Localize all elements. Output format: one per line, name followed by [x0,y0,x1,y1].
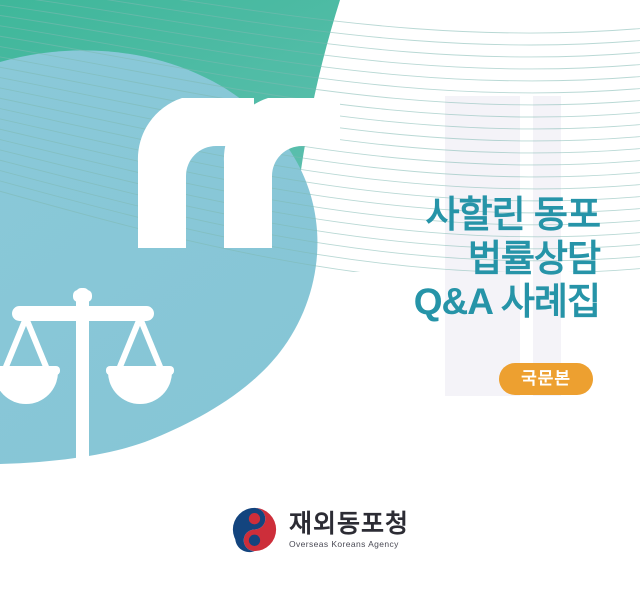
agency-name-ko: 재외동포청 [289,511,409,537]
agency-logo-text: 재외동포청 Overseas Koreans Agency [289,511,409,549]
scales-of-justice-icon [0,288,174,470]
cover-page: 사할린 동포 법률상담 Q&A 사례집 국문본 재외동포청 Overseas K… [0,0,640,591]
agency-name-en: Overseas Koreans Agency [289,540,409,549]
title-line-1: 사할린 동포 [270,193,600,237]
page-title: 사할린 동포 법률상담 Q&A 사례집 [270,193,600,324]
taegeuk-icon [231,506,278,553]
title-line-2: 법률상담 [270,237,600,281]
title-line-3: Q&A 사례집 [270,280,600,324]
blob-bottom-cut [0,372,290,492]
status-badge: 국문본 [499,363,593,395]
agency-logo: 재외동포청 Overseas Koreans Agency [231,506,409,553]
